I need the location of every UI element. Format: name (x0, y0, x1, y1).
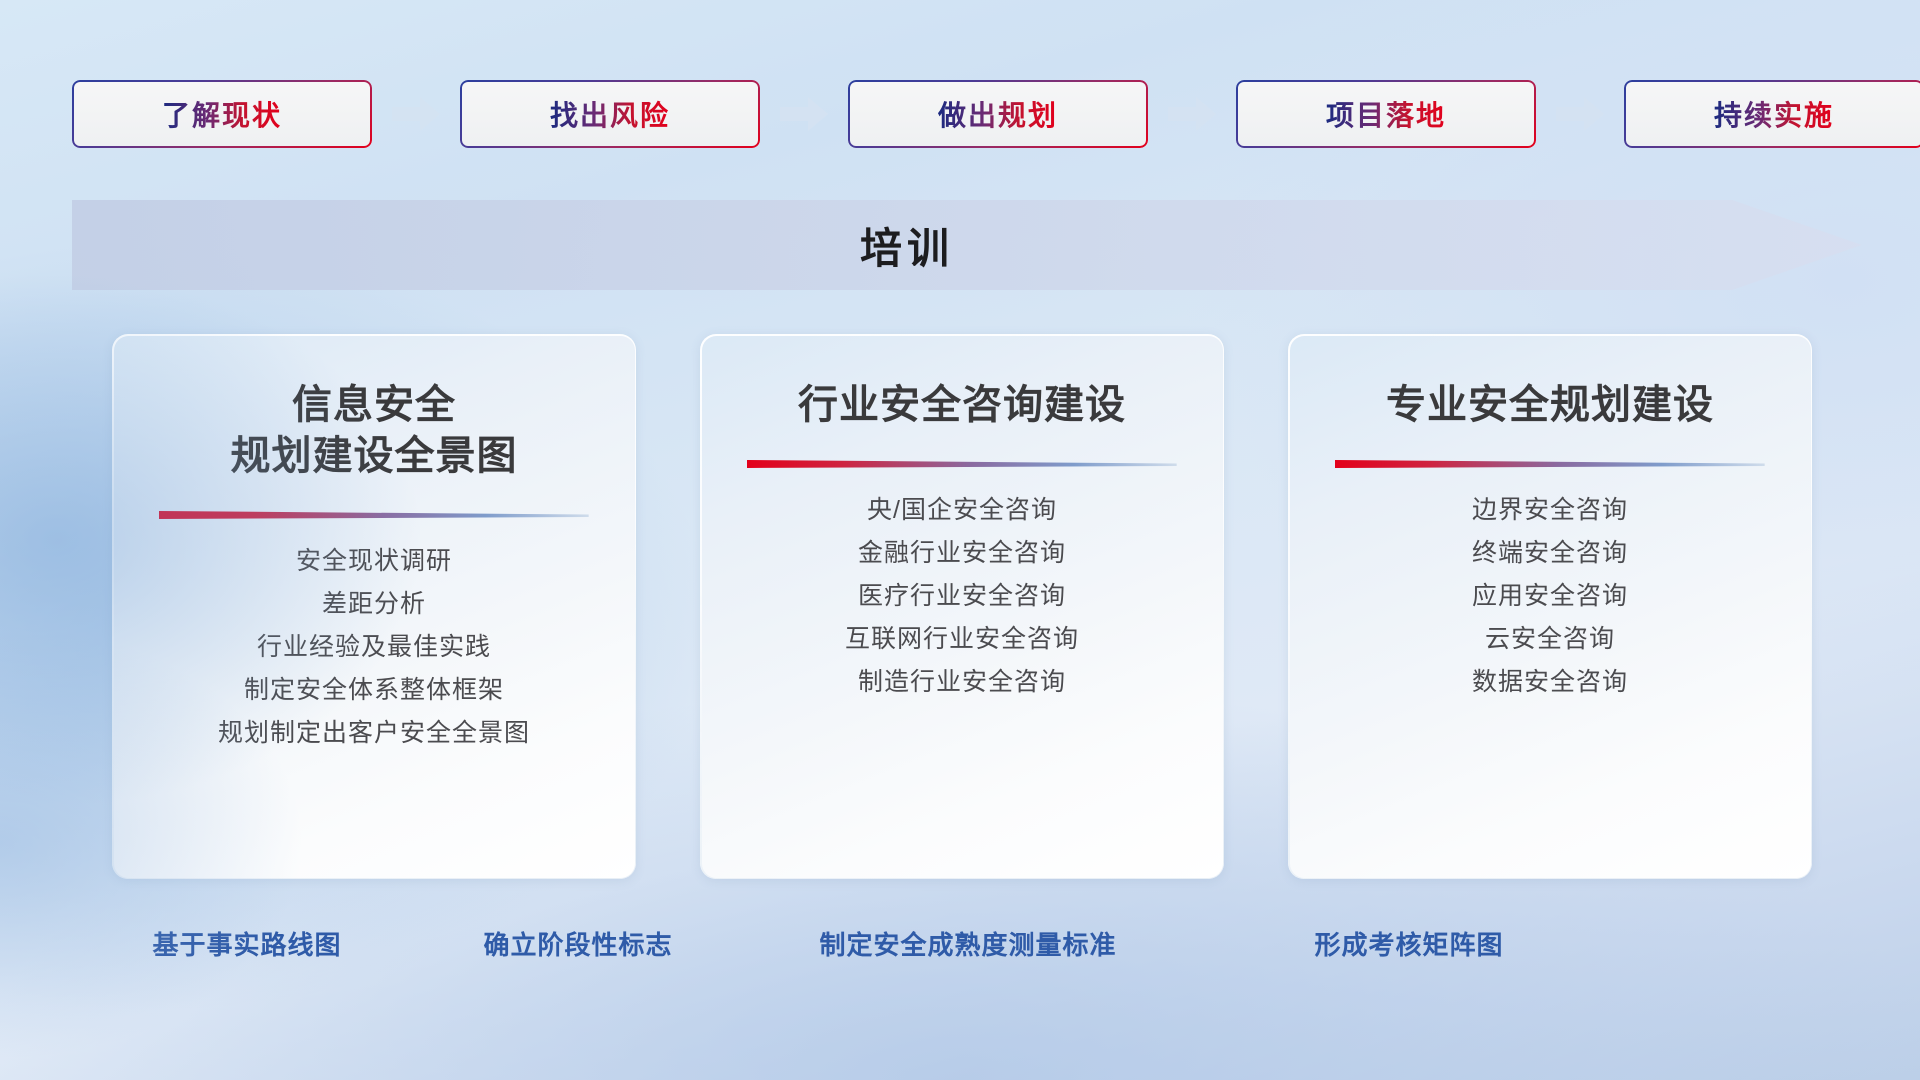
process-step-label: 找出风险 (550, 94, 670, 134)
list-item: 边界安全咨询 (1288, 489, 1812, 532)
list-item: 医疗行业安全咨询 (700, 575, 1224, 618)
card-title: 专业安全规划建设 (1288, 334, 1812, 431)
process-step-4[interactable]: 项目落地 (1236, 80, 1536, 148)
card-group: 信息安全 规划建设全景图 安全现状调研 (112, 334, 1812, 884)
footnote-label: 形成考核矩阵图 (1314, 925, 1503, 962)
list-item: 云安全咨询 (1288, 618, 1812, 661)
card-divider-rule (747, 457, 1177, 471)
list-item: 终端安全咨询 (1288, 532, 1812, 575)
training-banner-label: 培训 (72, 200, 1862, 290)
right-arrow-icon (780, 97, 828, 131)
card-item-list: 边界安全咨询 终端安全咨询 应用安全咨询 云安全咨询 数据安全咨询 (1288, 489, 1812, 704)
card-professional-security-planning[interactable]: 专业安全规划建设 边界安全咨询 (1288, 334, 1812, 879)
list-item: 金融行业安全咨询 (700, 532, 1224, 575)
process-step-3[interactable]: 做出规划 (848, 80, 1148, 148)
card-item-list: 安全现状调研 差距分析 行业经验及最佳实践 制定安全体系整体框架 规划制定出客户… (112, 540, 636, 755)
list-item: 数据安全咨询 (1288, 661, 1812, 704)
list-item: 规划制定出客户安全全景图 (112, 712, 636, 755)
card-divider-rule (1335, 457, 1765, 471)
list-item: 安全现状调研 (112, 540, 636, 583)
process-step-label: 项目落地 (1326, 94, 1446, 134)
list-item: 制造行业安全咨询 (700, 661, 1224, 704)
footnote-label: 基于事实路线图 (152, 925, 341, 962)
process-step-label: 了解现状 (162, 94, 282, 134)
training-banner: 培训 (72, 200, 1862, 290)
process-step-label: 做出规划 (938, 94, 1058, 134)
footnote-row: 基于事实路线图 确立阶段性标志 制定安全成熟度测量标准 形成考核矩阵图 (0, 925, 1920, 971)
list-item: 互联网行业安全咨询 (700, 618, 1224, 661)
process-step-5[interactable]: 持续实施 (1624, 80, 1920, 148)
footnote-label: 确立阶段性标志 (483, 925, 672, 962)
card-item-list: 央/国企安全咨询 金融行业安全咨询 医疗行业安全咨询 互联网行业安全咨询 制造行… (700, 489, 1224, 704)
list-item: 差距分析 (112, 583, 636, 626)
right-arrow-icon (392, 97, 440, 131)
right-arrow-icon (1168, 97, 1216, 131)
list-item: 行业经验及最佳实践 (112, 626, 636, 669)
footnote-label: 制定安全成熟度测量标准 (819, 925, 1116, 962)
process-step-row: 了解现状 找出风险 做出规划 项目落地 (72, 78, 1862, 150)
process-step-1[interactable]: 了解现状 (72, 80, 372, 148)
list-item: 应用安全咨询 (1288, 575, 1812, 618)
list-item: 央/国企安全咨询 (700, 489, 1224, 532)
list-item: 制定安全体系整体框架 (112, 669, 636, 712)
right-arrow-icon (1556, 97, 1604, 131)
card-industry-security-consulting[interactable]: 行业安全咨询建设 央/国企安全咨询 (700, 334, 1224, 879)
process-step-2[interactable]: 找出风险 (460, 80, 760, 148)
card-title: 行业安全咨询建设 (700, 334, 1224, 431)
slide-canvas: 了解现状 找出风险 做出规划 项目落地 (0, 0, 1920, 1080)
card-title: 信息安全 规划建设全景图 (112, 334, 636, 482)
card-divider-rule (159, 508, 589, 522)
card-info-security-blueprint[interactable]: 信息安全 规划建设全景图 安全现状调研 (112, 334, 636, 879)
process-step-label: 持续实施 (1714, 94, 1834, 134)
